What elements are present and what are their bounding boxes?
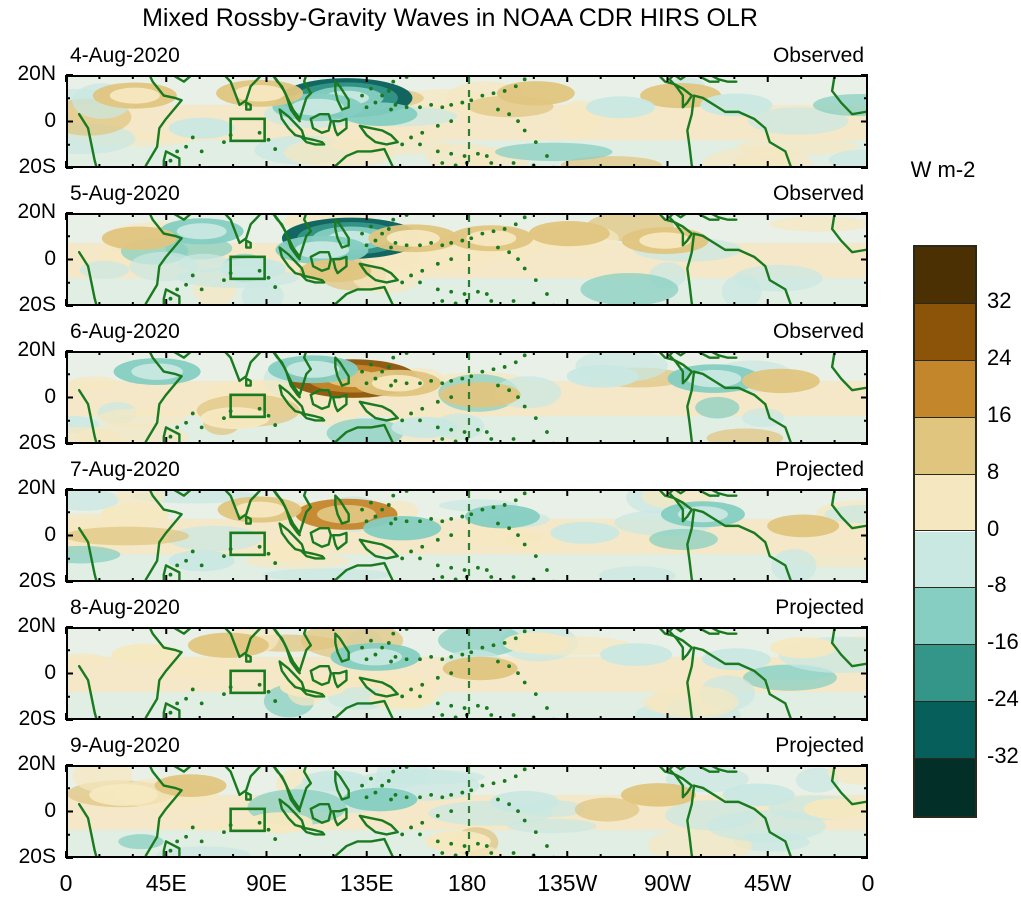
panel-status-label: Projected [66,458,864,482]
panel-status-label: Projected [66,734,864,758]
map-plot-area [66,351,868,444]
colorbar-band [915,588,975,645]
map-anomaly-field [68,353,868,444]
y-axis-label: 20S [0,845,56,869]
anomaly-feature [234,85,285,101]
anomaly-feature [369,688,435,709]
figure-root: Mixed Rossby-Gravity Waves in NOAA CDR H… [0,0,1021,923]
y-axis-label: 20S [0,569,56,593]
anomaly-feature [550,522,619,544]
map-anomaly-field [68,491,868,582]
colorbar-band [915,645,975,702]
panel-status-label: Observed [66,44,864,68]
anomaly-feature [702,648,771,670]
anomaly-feature [443,657,518,681]
y-axis-label: 20S [0,155,56,179]
anomaly-feature [169,118,235,139]
map-anomaly-field [68,77,868,168]
anomaly-feature [466,230,516,246]
figure-title: Mixed Rossby-Gravity Waves in NOAA CDR H… [0,4,900,33]
map-anomaly-field [68,629,868,720]
anomaly-feature [342,788,417,812]
y-axis-label: 20N [0,476,56,500]
anomaly-feature [425,831,491,852]
colorbar-tick-label: -8 [987,572,1007,598]
anomaly-feature [100,503,169,525]
y-axis-label: 0 [0,109,56,133]
map-plot-area [66,627,868,720]
panel-status-label: Observed [66,320,864,344]
y-axis-label: 0 [0,523,56,547]
colorbar-tick-label: -24 [987,686,1019,712]
y-axis-label: 20N [0,62,56,86]
y-axis-label: 20N [0,752,56,776]
colorbar-tick-label: 24 [987,345,1011,371]
anomaly-feature [287,361,340,378]
panel-status-label: Projected [66,596,864,620]
anomaly-feature [465,505,540,529]
colorbar-units-label: W m-2 [863,157,1021,183]
panel-status-label: Observed [66,182,864,206]
anomaly-feature [188,633,269,658]
anomaly-feature [235,502,285,518]
colorbar-tick-label: -16 [987,629,1019,655]
anomaly-feature [497,81,575,105]
anomaly-feature [440,382,521,407]
colorbar-band [915,247,975,304]
anomaly-feature [490,791,559,813]
anomaly-feature [529,221,610,246]
anomaly-feature [110,88,160,104]
anomaly-feature [503,632,569,653]
colorbar-tick-label: 32 [987,288,1011,314]
anomaly-feature [804,798,868,819]
y-axis-label: 0 [0,661,56,685]
y-axis-label: 20N [0,338,56,362]
anomaly-feature [291,99,344,116]
colorbar-tick-label: 8 [987,459,999,485]
anomaly-feature [567,365,639,388]
y-axis-label: 0 [0,385,56,409]
map-plot-area [66,489,868,582]
colorbar-band [915,475,975,532]
colorbar-band [915,702,975,759]
anomaly-feature [131,363,183,379]
colorbar-band [915,532,975,589]
colorbar-tick-label: 16 [987,402,1011,428]
y-axis-label: 20S [0,431,56,455]
map-anomaly-field [68,215,868,306]
map-plot-area [66,75,868,168]
anomaly-feature [767,515,839,538]
colorbar-band [915,418,975,475]
y-axis-label: 20S [0,707,56,731]
x-axis-labels: 045E90E135E180135W90W45W0 [0,870,1021,910]
map-anomaly-field [68,767,868,858]
anomaly-feature [177,223,227,239]
y-axis-label: 0 [0,247,56,271]
anomaly-feature [169,550,235,571]
anomaly-feature [742,369,820,393]
x-axis-label: 0 [808,870,928,897]
anomaly-feature [102,226,177,250]
colorbar-band [915,304,975,361]
anomaly-feature [600,643,672,666]
colorbar-band [915,759,975,816]
colorbar-tick-label: 0 [987,516,999,542]
anomaly-feature [111,644,180,666]
anomaly-feature [372,375,424,391]
y-axis-label: 20S [0,293,56,317]
map-plot-area [66,765,868,858]
y-axis-label: 20N [0,614,56,638]
map-plot-area [66,213,868,306]
y-axis-label: 20N [0,200,56,224]
colorbar [913,245,977,818]
anomaly-feature [586,96,655,118]
anomaly-feature [770,637,836,658]
colorbar-tick-label: -32 [987,743,1019,769]
y-axis-label: 0 [0,799,56,823]
colorbar-band [915,361,975,418]
anomaly-feature [89,784,158,806]
